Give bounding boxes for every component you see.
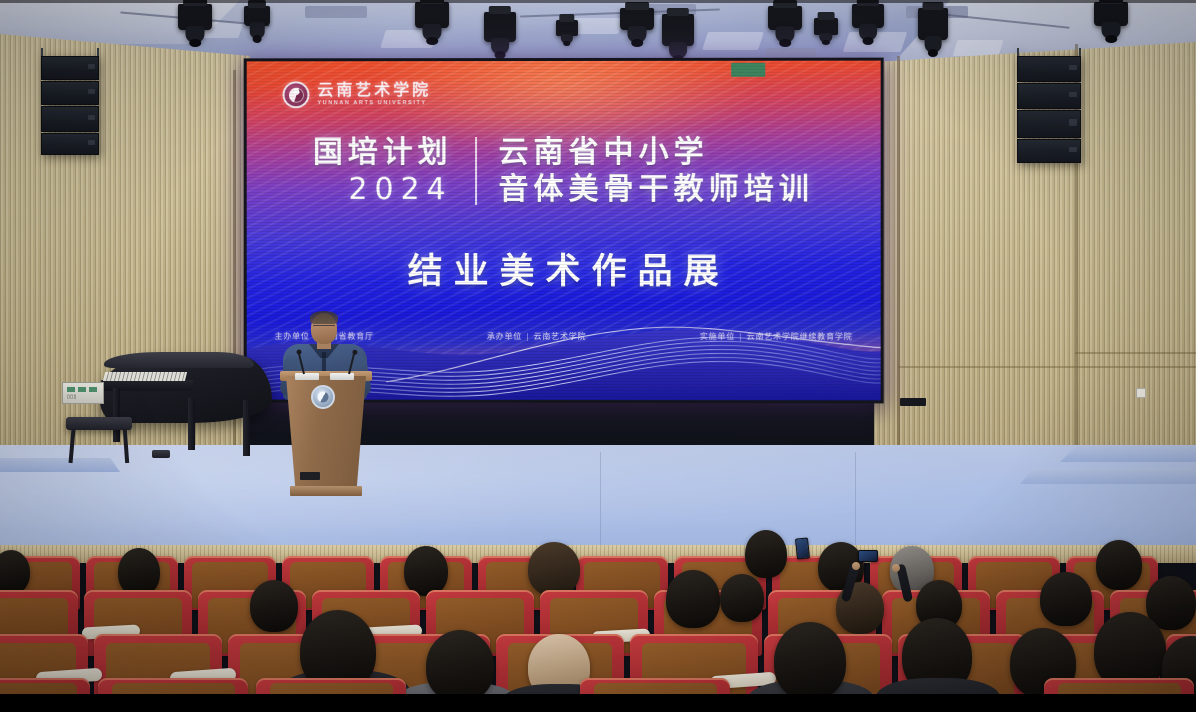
- stage-floor: [0, 445, 1196, 555]
- stage-control-console[interactable]: ▯▯▯: [62, 382, 104, 404]
- stage-light-icon: [662, 14, 694, 46]
- credit-role: 承办单位: [487, 331, 522, 342]
- led-headline-block: 国培计划 2024 云南省中小学 音体美骨干教师培训: [247, 137, 881, 205]
- smartphone-icon[interactable]: [795, 537, 810, 559]
- credit-role: 实施单位: [700, 331, 735, 342]
- credit-sep: |: [526, 332, 529, 341]
- stage-light-icon: [484, 12, 516, 42]
- audience-head: [1040, 572, 1092, 626]
- piano-leg: [113, 388, 120, 442]
- stage-step: [0, 458, 120, 472]
- stage-light-icon: [556, 20, 578, 36]
- audience-head: [666, 570, 720, 628]
- audience-head: [426, 630, 494, 702]
- institution-emblem-icon: [311, 385, 335, 409]
- presenter-glasses: [313, 325, 335, 330]
- stage-light-icon: [918, 8, 948, 40]
- presenter-hair: [310, 311, 338, 324]
- university-name-en: YUNNAN ARTS UNIVERSITY: [317, 101, 431, 107]
- floor-seam: [600, 452, 601, 548]
- audience-head: [774, 622, 846, 700]
- piano-lid: [104, 352, 254, 368]
- hand: [892, 564, 900, 572]
- stage-light-icon: [620, 8, 654, 30]
- audience-head: [1096, 540, 1142, 590]
- podium-nameplate: [295, 373, 319, 380]
- audience-head: [118, 548, 160, 596]
- piano-leg: [243, 400, 250, 456]
- stage-light-icon: [768, 6, 802, 30]
- stage-light-icon: [244, 6, 270, 26]
- credit-role: 主办单位: [275, 331, 310, 342]
- headline-left-column: 国培计划 2024: [313, 137, 475, 205]
- audience-head: [745, 530, 787, 578]
- stage-step: [1020, 468, 1196, 484]
- podium-nameplate: [330, 373, 354, 380]
- ceiling-vent: [305, 6, 367, 18]
- led-green-artifact-patch: [731, 63, 765, 77]
- audience-head: [528, 542, 580, 596]
- audience-area: [0, 552, 1196, 712]
- program-year: 2024: [313, 174, 453, 206]
- program-scope: 云南省中小学: [499, 137, 814, 169]
- letterbox-top: [0, 0, 1196, 3]
- line-array-speaker: [41, 56, 99, 155]
- wall-seam: [897, 56, 900, 456]
- wall-panel-line: [1075, 352, 1196, 354]
- credit-sep: |: [739, 332, 743, 341]
- stage-step: [1060, 446, 1196, 462]
- credit-org: 云南艺术学院: [534, 331, 587, 342]
- wall-panel-line: [898, 366, 1196, 368]
- credit-host: 承办单位 | 云南艺术学院: [487, 331, 586, 342]
- headline-right-column: 云南省中小学 音体美骨干教师培训: [475, 137, 814, 205]
- letterbox-bottom: [0, 694, 1196, 712]
- ceiling-light-panel: [952, 40, 1003, 56]
- piano-bench: [66, 417, 132, 430]
- piano-leg: [188, 398, 195, 450]
- audience-head: [404, 546, 448, 596]
- hand: [852, 562, 860, 570]
- stage-light-icon: [178, 4, 212, 30]
- audience-head: [250, 580, 298, 632]
- credit-implementer: 实施单位 | 云南艺术学院继续教育学院: [700, 331, 853, 342]
- event-subtitle: 结业美术作品展: [247, 243, 881, 294]
- ceiling-vent: [766, 48, 816, 57]
- stage-light-icon: [1094, 2, 1128, 26]
- program-name: 国培计划: [313, 137, 453, 169]
- led-credits-row: 主办单位 | 云南省教育厅 承办单位 | 云南艺术学院 实施单位 | 云南艺术学…: [275, 331, 853, 342]
- piano-pedal-lyre: [152, 450, 170, 458]
- wall-outlet: [1136, 388, 1146, 398]
- program-detail: 音体美骨干教师培训: [499, 173, 814, 205]
- stage-light-icon: [814, 18, 838, 35]
- university-logo: 云南艺术学院 YUNNAN ARTS UNIVERSITY: [283, 81, 432, 108]
- credit-org: 云南艺术学院继续教育学院: [747, 331, 853, 342]
- smartphone-icon[interactable]: [858, 550, 878, 562]
- line-array-speaker: [1017, 56, 1081, 163]
- university-seal-icon: [283, 81, 310, 108]
- university-name-cn: 云南艺术学院: [317, 82, 431, 98]
- podium-plaque: [300, 472, 320, 480]
- stage-light-icon: [852, 4, 884, 28]
- screenshot-root: 云南艺术学院 YUNNAN ARTS UNIVERSITY 国培计划 2024 …: [0, 0, 1196, 712]
- audience-head: [720, 574, 764, 622]
- podium-base: [290, 486, 362, 496]
- piano-keys: [103, 372, 187, 381]
- console-label: ▯▯▯: [67, 394, 77, 400]
- ceiling-light-panel: [702, 32, 764, 50]
- stage-light-icon: [415, 2, 449, 28]
- floor-seam: [855, 452, 856, 548]
- wall-vent: [900, 398, 926, 406]
